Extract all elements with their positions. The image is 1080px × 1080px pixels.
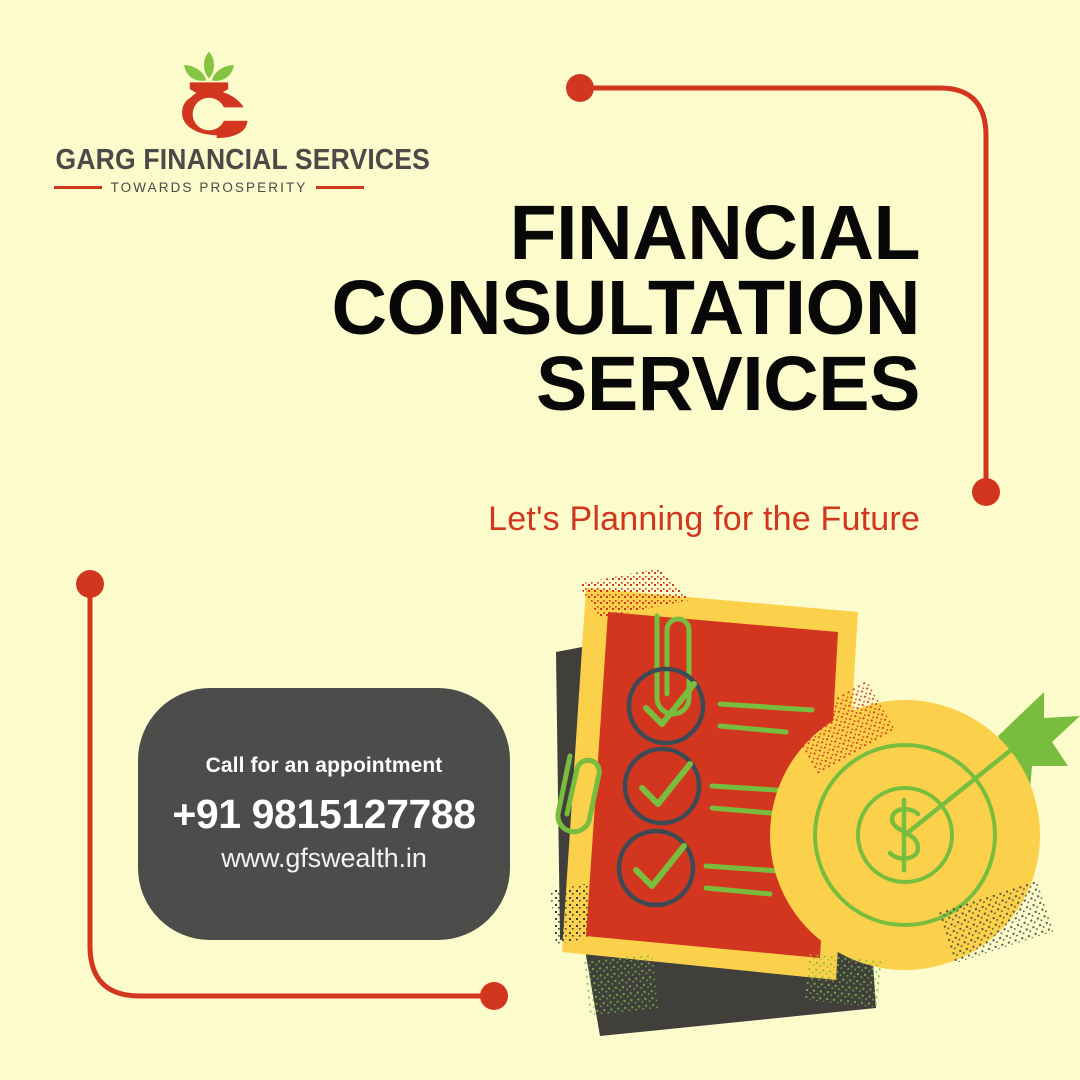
contact-website-url[interactable]: www.gfswealth.in	[221, 843, 427, 874]
decor-dot-start	[76, 570, 104, 598]
logo-company-name: GARG FINANCIAL SERVICES	[56, 144, 363, 177]
headline-line-1: FINANCIAL	[160, 196, 920, 271]
checklist-and-target-illustration	[540, 560, 1080, 1080]
contact-call-label: Call for an appointment	[206, 754, 443, 778]
page-subtitle: Let's Planning for the Future	[160, 500, 920, 539]
decor-dot-start	[566, 74, 594, 102]
tagline-rule-right	[316, 186, 364, 189]
logo-tagline-row: TOWARDS PROSPERITY	[44, 180, 374, 195]
headline-line-3: SERVICES	[160, 347, 920, 422]
poster-canvas: GARG FINANCIAL SERVICES TOWARDS PROSPERI…	[0, 0, 1080, 1080]
contact-phone-number[interactable]: +91 9815127788	[172, 794, 475, 835]
decor-dot-end	[972, 478, 1000, 506]
brand-logo: GARG FINANCIAL SERVICES TOWARDS PROSPERI…	[44, 44, 374, 199]
decor-dot-end	[480, 982, 508, 1010]
page-title: FINANCIAL CONSULTATION SERVICES	[160, 196, 920, 422]
pot-with-leaves-g-icon	[161, 44, 257, 140]
headline-line-2: CONSULTATION	[160, 271, 920, 346]
contact-card[interactable]: Call for an appointment +91 9815127788 w…	[138, 688, 510, 940]
tagline-rule-left	[54, 186, 102, 189]
logo-tagline: TOWARDS PROSPERITY	[111, 180, 308, 195]
